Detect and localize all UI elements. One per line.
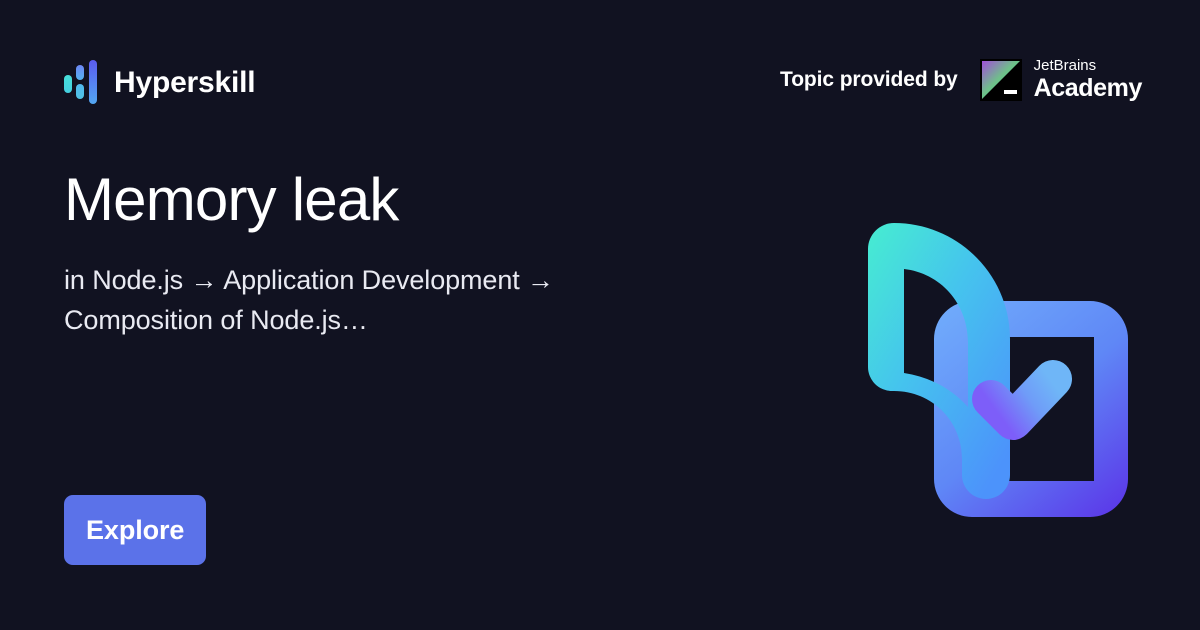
jetbrains-word: JetBrains	[1034, 58, 1142, 73]
header: Hyperskill Topic provided by	[0, 0, 1200, 150]
hyperskill-brand[interactable]: Hyperskill	[64, 60, 255, 106]
main-content: Memory leak in Node.js → Application Dev…	[64, 168, 704, 341]
hyperskill-brand-name: Hyperskill	[114, 68, 255, 98]
breadcrumb: in Node.js → Application Development → C…	[64, 233, 664, 341]
jetbrains-square-icon	[980, 59, 1022, 101]
share-card: Hyperskill Topic provided by	[0, 0, 1200, 630]
academy-word: Academy	[1034, 76, 1142, 101]
explore-button[interactable]: Explore	[64, 495, 206, 565]
checkmark-icon	[991, 379, 1053, 421]
page-title: Memory leak	[64, 168, 704, 233]
topic-provider: Topic provided by	[780, 58, 1142, 101]
jetbrains-academy-wordmark: JetBrains Academy	[1034, 58, 1142, 101]
hyperskill-bars-icon	[64, 60, 98, 106]
open-book-with-checked-page-icon	[844, 205, 1144, 525]
jetbrains-academy-logo[interactable]: JetBrains Academy	[980, 58, 1142, 101]
provider-label: Topic provided by	[780, 68, 958, 92]
